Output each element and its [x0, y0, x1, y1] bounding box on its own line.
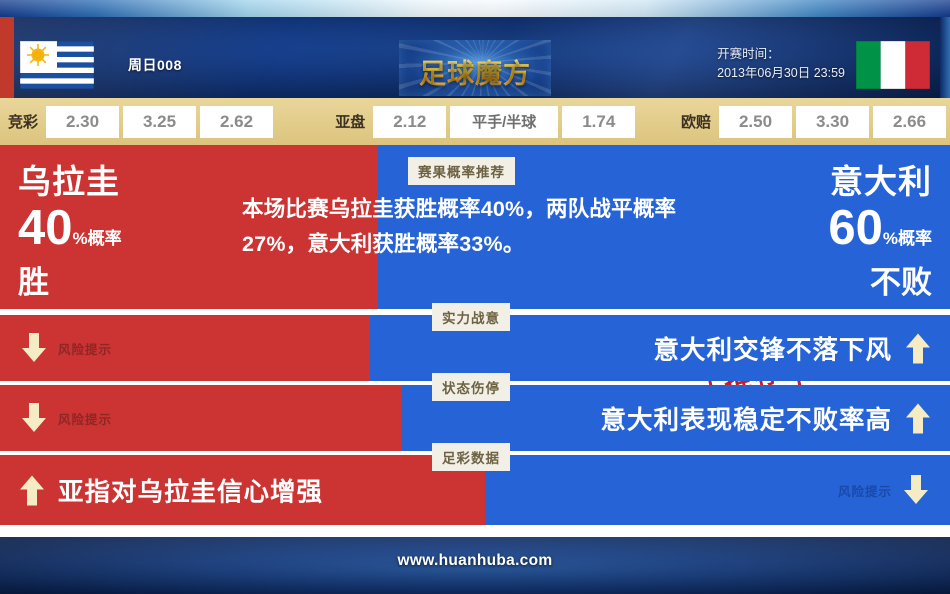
- site-logo: 足球魔方: [399, 40, 551, 96]
- row2-headline: 意大利交锋不落下风: [653, 330, 930, 367]
- odds-label-yapan: 亚盘: [327, 111, 373, 132]
- header-right-accent: [940, 17, 950, 98]
- odds-group-yapan: 亚盘 2.12 平手/半球 1.74: [327, 106, 639, 138]
- home-team-name: 乌拉圭: [18, 161, 122, 203]
- site-url[interactable]: www.huanhuba.com: [0, 552, 950, 570]
- header-left-accent: [0, 17, 14, 98]
- top-glow-strip: [0, 0, 950, 17]
- match-number: 周日008: [128, 55, 182, 75]
- uruguay-flag: [20, 41, 94, 89]
- row3-left-note: 风险提示: [22, 403, 112, 433]
- row4-headline: 亚指对乌拉圭信心增强: [20, 472, 323, 509]
- away-probability: 60%概率: [828, 203, 932, 264]
- odds-cell[interactable]: 2.30: [46, 106, 119, 138]
- home-outcome: 胜: [18, 264, 122, 302]
- arrow-up-icon: [906, 403, 930, 433]
- away-team-block: 意大利 60%概率 不败: [828, 161, 932, 302]
- row2-headline-text: 意大利交锋不落下风: [653, 330, 892, 367]
- away-team-name: 意大利: [828, 161, 932, 203]
- odds-cell[interactable]: 2.50: [719, 106, 792, 138]
- row3-headline: 意大利表现稳定不败率高: [600, 400, 930, 437]
- kickoff-value: 2013年06月30日 23:59: [717, 64, 845, 83]
- section-tag-form: 状态伤停: [432, 373, 510, 401]
- odds-bar: 竞彩 2.30 3.25 2.62 亚盘 2.12 平手/半球 1.74 欧赔 …: [0, 98, 950, 145]
- summary-text: 本场比赛乌拉圭获胜概率40%，两队战平概率27%，意大利获胜概率33%。: [242, 192, 682, 262]
- arrow-down-icon: [22, 333, 46, 363]
- odds-cell-handicap[interactable]: 平手/半球: [450, 106, 558, 138]
- probability-row: 乌拉圭 40%概率 胜 意大利 60%概率 不败 赛果概率推荐 本场比赛乌拉圭获…: [0, 145, 950, 309]
- row3-left-label: 风险提示: [58, 409, 112, 428]
- odds-cell[interactable]: 2.12: [373, 106, 446, 138]
- odds-cell[interactable]: 3.25: [123, 106, 196, 138]
- panels-zone: 乌拉圭 40%概率 胜 意大利 60%概率 不败 赛果概率推荐 本场比赛乌拉圭获…: [0, 145, 950, 537]
- odds-group-oupei: 欧赔 2.50 3.30 2.66: [673, 106, 950, 138]
- odds-cell[interactable]: 2.66: [873, 106, 946, 138]
- odds-cell[interactable]: 1.74: [562, 106, 635, 138]
- logo-text: 足球魔方: [399, 52, 551, 91]
- kickoff-label: 开赛时间：: [717, 45, 845, 64]
- odds-cell[interactable]: 2.62: [200, 106, 273, 138]
- odds-group-jingcai: 竞彩 2.30 3.25 2.62: [0, 106, 277, 138]
- row2-left-note: 风险提示: [22, 333, 112, 363]
- match-header: 周日008 足球魔方 开赛时间： 2013年06月30日 23:59: [0, 17, 950, 98]
- home-team-block: 乌拉圭 40%概率 胜: [18, 161, 122, 302]
- section-tag-main: 赛果概率推荐: [408, 157, 515, 185]
- section-tag-strength: 实力战意: [432, 303, 510, 331]
- odds-cell[interactable]: 3.30: [796, 106, 869, 138]
- row-betting-data: 亚指对乌拉圭信心增强 足彩数据 风险提示: [0, 455, 950, 525]
- home-probability-value: 40: [18, 201, 73, 255]
- odds-label-jingcai: 竞彩: [0, 111, 46, 132]
- row4-headline-text: 亚指对乌拉圭信心增强: [58, 472, 323, 509]
- home-probability: 40%概率: [18, 203, 122, 264]
- row-form-injury: 风险提示 状态伤停 意大利表现稳定不败率高: [0, 385, 950, 451]
- section-tag-data: 足彩数据: [432, 443, 510, 471]
- away-probability-suffix: %概率: [883, 229, 932, 248]
- arrow-up-icon: [906, 333, 930, 363]
- row4-right-note: 风险提示: [838, 475, 928, 505]
- row2-left-label: 风险提示: [58, 339, 112, 358]
- home-probability-suffix: %概率: [73, 229, 122, 248]
- italy-flag: [856, 41, 930, 89]
- row4-right-label: 风险提示: [838, 481, 892, 500]
- kickoff-info: 开赛时间： 2013年06月30日 23:59: [717, 45, 845, 83]
- arrow-down-icon: [904, 475, 928, 505]
- arrow-up-icon: [20, 475, 44, 505]
- away-probability-value: 60: [828, 201, 883, 255]
- away-outcome: 不败: [828, 264, 932, 302]
- row-strength: 风险提示 实力战意 意大利交锋不落下风: [0, 315, 950, 381]
- odds-label-oupei: 欧赔: [673, 111, 719, 132]
- site-footer: www.huanhuba.com: [0, 537, 950, 594]
- row3-headline-text: 意大利表现稳定不败率高: [600, 400, 892, 437]
- arrow-down-icon: [22, 403, 46, 433]
- infographic-root: 周日008 足球魔方 开赛时间： 2013年06月30日 23:59 竞彩 2.…: [0, 0, 950, 594]
